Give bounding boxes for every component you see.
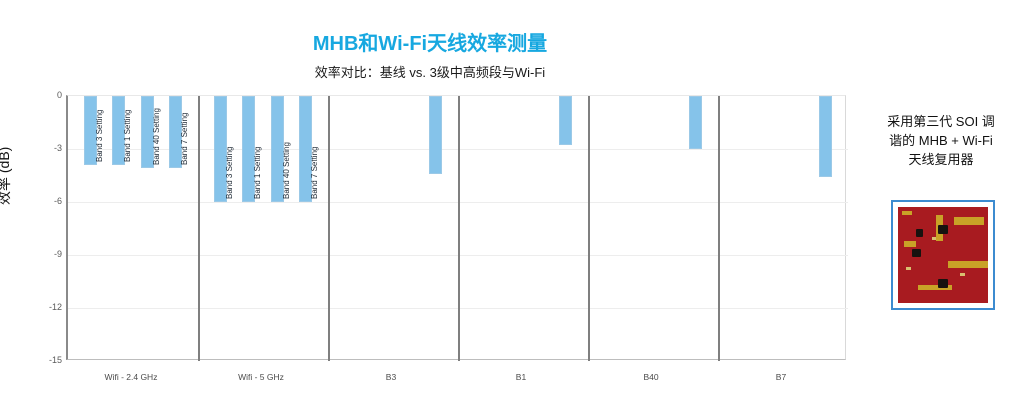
slide-canvas: MHB和Wi-Fi天线效率测量 效率对比：基线 vs. 3级中高频段与Wi-Fi… [0,0,1024,407]
bar-annotation: Band 40 Setting [282,142,291,199]
y-axis-tick-label: 0 [22,90,62,100]
bar[interactable]: Band 7 Setting [169,96,182,168]
bar[interactable]: Band 40 Setting [271,96,284,202]
y-axis-ticks: 0-3-6-9-12-15 [18,95,62,360]
pcb-photo-frame [891,200,995,310]
bar-group [588,96,718,361]
page-subtitle: 效率对比：基线 vs. 3级中高频段与Wi-Fi [0,62,860,81]
x-axis-tick-label: B7 [716,372,846,382]
pcb-photo [898,207,988,303]
panel-caption-line-2: 谐的 MHB + Wi-Fi [858,131,1024,150]
x-axis-tick-label: B3 [326,372,456,382]
y-axis-tick-label: -12 [22,302,62,312]
bar-annotation: Band 40 Setting [152,108,161,165]
bar[interactable] [429,96,442,174]
bar[interactable]: Band 7 Setting [299,96,312,202]
bar-annotation: Band 1 Setting [123,109,132,161]
y-axis-tick-label: -6 [22,196,62,206]
bar[interactable]: Band 1 Setting [242,96,255,202]
bar[interactable]: Band 3 Setting [84,96,97,165]
bar[interactable] [689,96,702,149]
x-axis-tick-label: B40 [586,372,716,382]
x-axis-tick-label: Wifi - 2.4 GHz [66,372,196,382]
plot-frame: Band 3 SettingBand 1 SettingBand 40 Sett… [66,95,846,360]
bar[interactable] [819,96,832,177]
bar-group: Band 3 SettingBand 1 SettingBand 40 Sett… [198,96,328,361]
bar-annotation: Band 3 Setting [95,109,104,161]
bar-annotation: Band 3 Setting [225,147,234,199]
chart-plot-area: Band 3 SettingBand 1 SettingBand 40 Sett… [66,95,846,360]
bar[interactable]: Band 40 Setting [141,96,154,168]
bar-annotation: Band 7 Setting [310,147,319,199]
x-axis-tick-label: B1 [456,372,586,382]
bar[interactable]: Band 1 Setting [112,96,125,165]
page-title: MHB和Wi-Fi天线效率测量 [0,27,860,56]
panel-caption-line-1: 采用第三代 SOI 调 [858,112,1024,131]
bar-group [458,96,588,361]
bar[interactable] [559,96,572,145]
bar-annotation: Band 1 Setting [253,147,262,199]
bar-group [718,96,848,361]
panel-caption: 采用第三代 SOI 调 谐的 MHB + Wi-Fi 天线复用器 [858,112,1024,169]
bar-group: Band 3 SettingBand 1 SettingBand 40 Sett… [68,96,198,361]
x-axis-tick-label: Wifi - 5 GHz [196,372,326,382]
y-axis-tick-label: -15 [22,355,62,365]
panel-caption-line-3: 天线复用器 [858,150,1024,169]
bar-group [328,96,458,361]
bar[interactable]: Band 3 Setting [214,96,227,202]
x-axis-labels: Wifi - 2.4 GHzWifi - 5 GHzB3B1B40B7 [66,372,846,388]
y-axis-label: 效率 (dB) [0,147,14,205]
bar-annotation: Band 7 Setting [180,113,189,165]
y-axis-tick-label: -3 [22,143,62,153]
y-axis-tick-label: -9 [22,249,62,259]
